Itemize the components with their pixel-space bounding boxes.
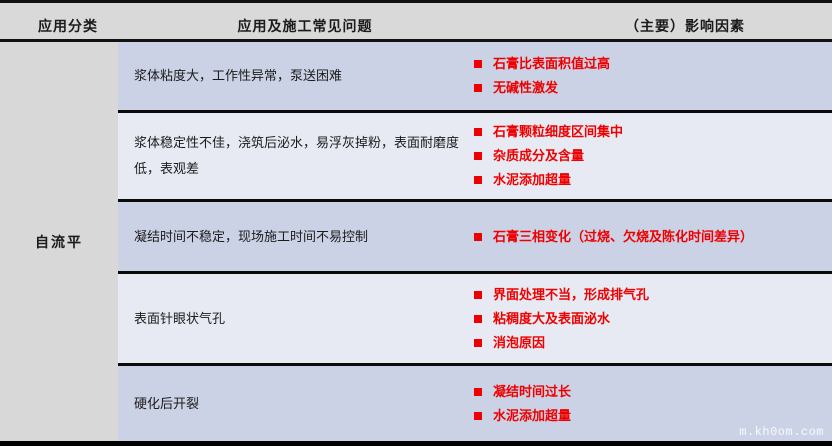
factor-list: 石膏颗粒细度区间集中杂质成分及含量水泥添加超量: [474, 120, 826, 192]
factor-list-item: 消泡原因: [474, 331, 826, 355]
table-bottom-border: [0, 441, 832, 446]
factor-label: 杂质成分及含量: [493, 144, 584, 168]
square-bullet-icon: [474, 128, 482, 136]
table-row: 浆体粘度大，工作性异常，泵送困难石膏比表面积值过高无碱性激发: [118, 42, 832, 113]
factor-list-item: 杂质成分及含量: [474, 144, 826, 168]
table-row: 硬化后开裂凝结时间过长水泥添加超量: [118, 366, 832, 441]
factor-label: 无碱性激发: [493, 76, 558, 100]
table-header-row: 应用分类 应用及施工常见问题 （主要）影响因素: [0, 0, 832, 42]
factor-list-item: 石膏三相变化（过烧、欠烧及陈化时间差异）: [474, 225, 826, 249]
category-cell-self-leveling: 自流平: [0, 42, 118, 441]
factor-label: 粘稠度大及表面泌水: [493, 307, 610, 331]
table-screenshot: 应用分类 应用及施工常见问题 （主要）影响因素 自流平 浆体粘度大，工作性异常，…: [0, 0, 832, 446]
table-row: 表面针眼状气孔界面处理不当，形成排气孔粘稠度大及表面泌水消泡原因: [118, 274, 832, 366]
problem-cell: 表面针眼状气孔: [118, 306, 474, 332]
problem-cell: 凝结时间不稳定，现场施工时间不易控制: [118, 224, 474, 250]
column-header-problems: 应用及施工常见问题: [180, 16, 430, 36]
factor-label: 石膏三相变化（过烧、欠烧及陈化时间差异）: [493, 225, 753, 249]
square-bullet-icon: [474, 84, 482, 92]
square-bullet-icon: [474, 388, 482, 396]
problem-cell: 浆体稳定性不佳，浇筑后泌水，易浮灰掉粉，表面耐磨度低，表观差: [118, 130, 474, 182]
factor-list: 石膏比表面积值过高无碱性激发: [474, 52, 826, 100]
factor-list-item: 水泥添加超量: [474, 168, 826, 192]
factor-list-item: 粘稠度大及表面泌水: [474, 307, 826, 331]
square-bullet-icon: [474, 152, 482, 160]
factor-list-item: 凝结时间过长: [474, 380, 826, 404]
factor-list: 界面处理不当，形成排气孔粘稠度大及表面泌水消泡原因: [474, 283, 826, 355]
square-bullet-icon: [474, 412, 482, 420]
factor-label: 界面处理不当，形成排气孔: [493, 283, 649, 307]
factor-cell: 石膏颗粒细度区间集中杂质成分及含量水泥添加超量: [474, 120, 832, 192]
factor-cell: 凝结时间过长水泥添加超量: [474, 380, 832, 428]
table-row: 凝结时间不稳定，现场施工时间不易控制石膏三相变化（过烧、欠烧及陈化时间差异）: [118, 202, 832, 274]
square-bullet-icon: [474, 233, 482, 241]
table-body: 自流平 浆体粘度大，工作性异常，泵送困难石膏比表面积值过高无碱性激发浆体稳定性不…: [0, 42, 832, 443]
square-bullet-icon: [474, 176, 482, 184]
factor-label: 消泡原因: [493, 331, 545, 355]
table-rows-container: 浆体粘度大，工作性异常，泵送困难石膏比表面积值过高无碱性激发浆体稳定性不佳，浇筑…: [118, 42, 832, 441]
factor-cell: 石膏比表面积值过高无碱性激发: [474, 52, 832, 100]
factor-list: 凝结时间过长水泥添加超量: [474, 380, 826, 428]
category-label: 自流平: [35, 232, 83, 252]
problem-cell: 硬化后开裂: [118, 391, 474, 417]
square-bullet-icon: [474, 60, 482, 68]
factor-label: 水泥添加超量: [493, 404, 571, 428]
factor-label: 石膏比表面积值过高: [493, 52, 610, 76]
factor-label: 凝结时间过长: [493, 380, 571, 404]
factor-list-item: 石膏颗粒细度区间集中: [474, 120, 826, 144]
factor-label: 石膏颗粒细度区间集中: [493, 120, 623, 144]
square-bullet-icon: [474, 315, 482, 323]
problem-cell: 浆体粘度大，工作性异常，泵送困难: [118, 63, 474, 89]
square-bullet-icon: [474, 291, 482, 299]
factor-list-item: 界面处理不当，形成排气孔: [474, 283, 826, 307]
factor-label: 水泥添加超量: [493, 168, 571, 192]
table-row: 浆体稳定性不佳，浇筑后泌水，易浮灰掉粉，表面耐磨度低，表观差石膏颗粒细度区间集中…: [118, 113, 832, 202]
factor-list: 石膏三相变化（过烧、欠烧及陈化时间差异）: [474, 225, 826, 249]
factor-list-item: 水泥添加超量: [474, 404, 826, 428]
column-header-category: 应用分类: [18, 16, 118, 36]
square-bullet-icon: [474, 339, 482, 347]
factor-list-item: 无碱性激发: [474, 76, 826, 100]
column-header-factors: （主要）影响因素: [560, 16, 810, 36]
factor-list-item: 石膏比表面积值过高: [474, 52, 826, 76]
factor-cell: 石膏三相变化（过烧、欠烧及陈化时间差异）: [474, 225, 832, 249]
factor-cell: 界面处理不当，形成排气孔粘稠度大及表面泌水消泡原因: [474, 283, 832, 355]
